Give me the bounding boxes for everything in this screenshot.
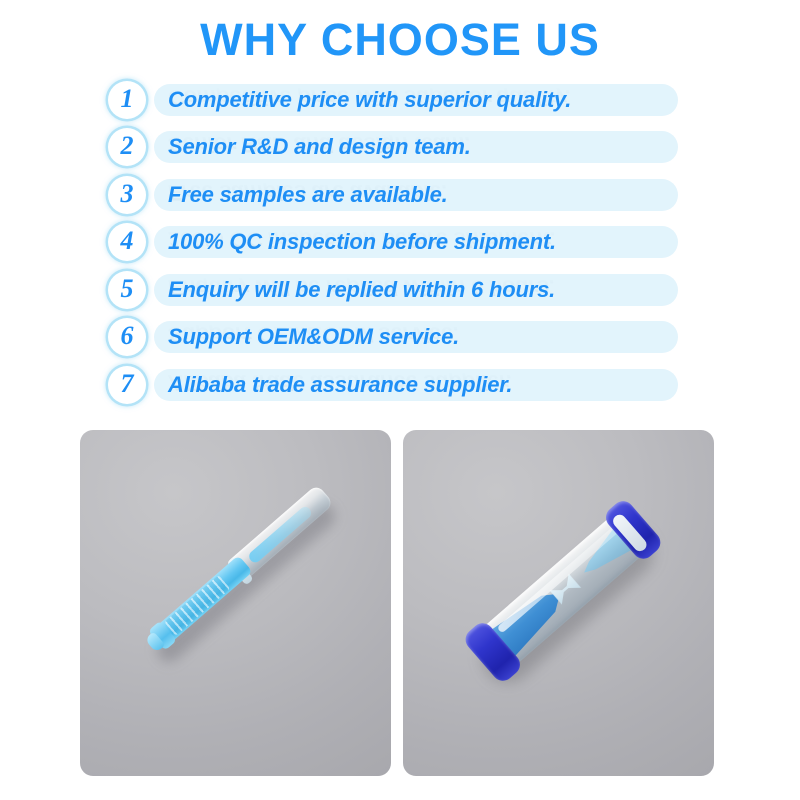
- list-item: 2 Senior R&D and design team. Senior R&D…: [108, 124, 678, 172]
- benefit-text: Alibaba trade assurance supplier.: [168, 372, 512, 398]
- benefit-number-badge: 6: [108, 318, 146, 356]
- brush-body: [141, 483, 336, 658]
- benefit-number-badge: 2: [108, 128, 146, 166]
- sand-timer-body: [461, 497, 665, 686]
- product-photo-gallery: [80, 430, 714, 776]
- list-item: 6 Support OEM&ODM service. Support OEM&O…: [108, 314, 678, 362]
- benefit-text: Competitive price with superior quality.: [168, 87, 571, 113]
- benefit-number: 4: [121, 228, 134, 254]
- benefit-number: 3: [121, 181, 134, 207]
- benefit-number-badge: 4: [108, 223, 146, 261]
- benefit-pill: Support OEM&ODM service. Support OEM&ODM…: [154, 321, 678, 353]
- list-item: 3 Free samples are available. Free sampl…: [108, 171, 678, 219]
- benefit-number-badge: 1: [108, 81, 146, 119]
- benefit-text: Senior R&D and design team.: [168, 134, 471, 160]
- benefits-list: 1 Competitive price with superior qualit…: [108, 76, 678, 409]
- benefit-pill: Competitive price with superior quality.…: [154, 84, 678, 116]
- list-item: 1 Competitive price with superior qualit…: [108, 76, 678, 124]
- benefit-pill: 100% QC inspection before shipment. 100%…: [154, 226, 678, 258]
- benefit-text: Enquiry will be replied within 6 hours.: [168, 277, 555, 303]
- benefit-number-badge: 5: [108, 271, 146, 309]
- brush-product-illustration: [80, 430, 391, 776]
- benefit-text: 100% QC inspection before shipment.: [168, 229, 556, 255]
- benefit-number: 7: [121, 371, 134, 397]
- page-title: WHY CHOOSE US: [0, 14, 800, 66]
- sand-timer-photo: [403, 430, 714, 776]
- benefit-number: 6: [121, 323, 134, 349]
- benefit-pill: Free samples are available. Free samples…: [154, 179, 678, 211]
- benefit-pill: Alibaba trade assurance supplier. Alibab…: [154, 369, 678, 401]
- benefit-number-badge: 7: [108, 366, 146, 404]
- interdental-brush-photo: [80, 430, 391, 776]
- list-item: 4 100% QC inspection before shipment. 10…: [108, 219, 678, 267]
- benefit-number: 1: [121, 86, 134, 112]
- benefit-number-badge: 3: [108, 176, 146, 214]
- list-item: 7 Alibaba trade assurance supplier. Alib…: [108, 361, 678, 409]
- benefit-number: 2: [121, 133, 134, 159]
- benefit-pill: Enquiry will be replied within 6 hours. …: [154, 274, 678, 306]
- list-item: 5 Enquiry will be replied within 6 hours…: [108, 266, 678, 314]
- timer-product-illustration: [403, 430, 714, 776]
- benefit-text: Support OEM&ODM service.: [168, 324, 459, 350]
- benefit-pill: Senior R&D and design team. Senior R&D a…: [154, 131, 678, 163]
- benefit-number: 5: [121, 276, 134, 302]
- benefit-text: Free samples are available.: [168, 182, 448, 208]
